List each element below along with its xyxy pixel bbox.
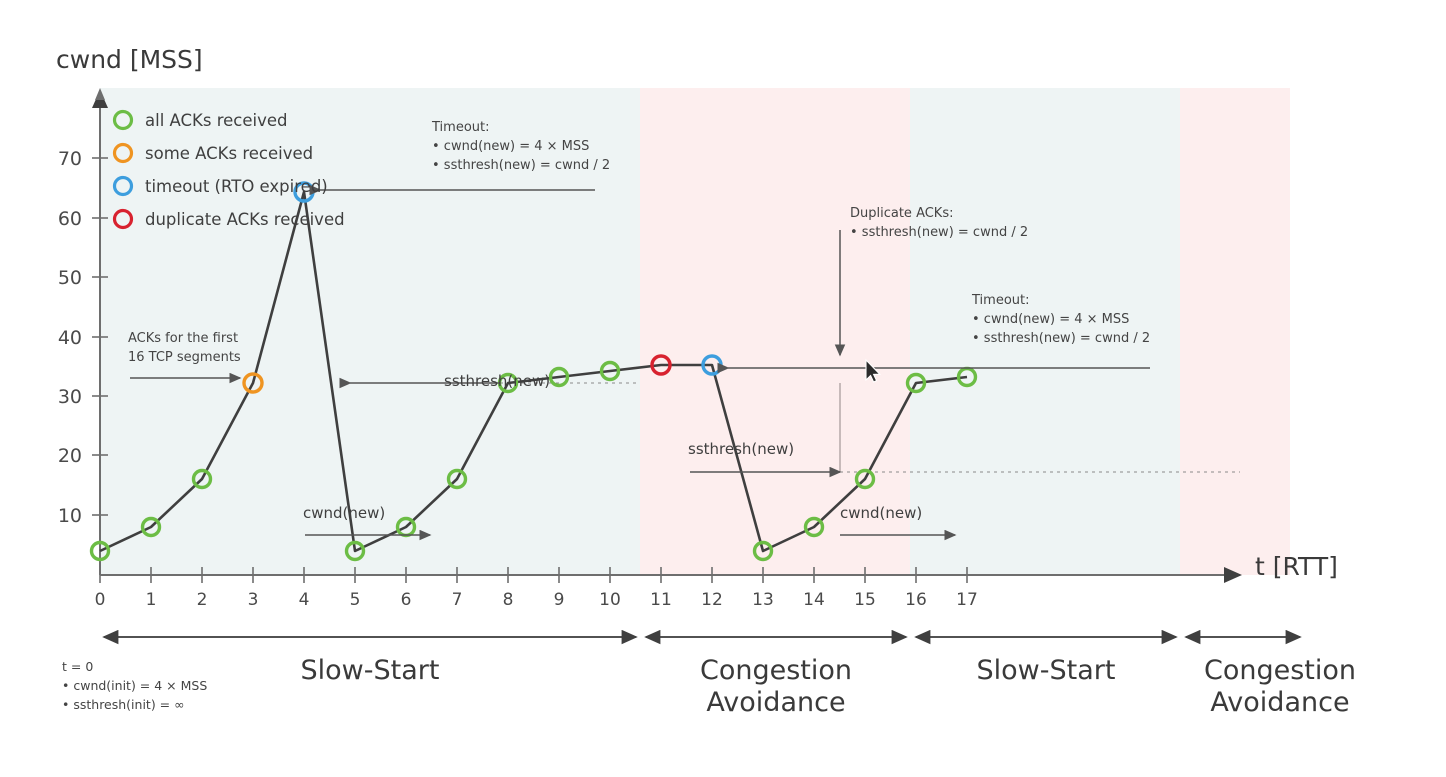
x-tick-label-2: 2 (182, 590, 222, 611)
phase-label-slow-start-1: Slow-Start (230, 655, 510, 687)
x-tick-label-9: 9 (539, 590, 579, 611)
x-tick-label-12: 12 (692, 590, 732, 611)
y-tick-label-10: 10 (30, 505, 82, 529)
y-tick-label-20: 20 (30, 445, 82, 469)
x-tick-label-13: 13 (743, 590, 783, 611)
annotation-initial-state: t = 0 • cwnd(init) = 4 × MSS • ssthresh(… (62, 658, 207, 714)
x-tick-label-6: 6 (386, 590, 426, 611)
x-tick-label-5: 5 (335, 590, 375, 611)
annotation-duplicate-acks: Duplicate ACKs: • ssthresh(new) = cwnd /… (850, 205, 1028, 243)
phase-label-congestion-avoidance-2: Congestion Avoidance (1155, 655, 1405, 720)
tcp-congestion-chart: cwnd [MSS] t [RTT] 10 20 30 40 50 60 70 … (0, 0, 1446, 777)
annotation-timeout-2: Timeout: • cwnd(new) = 4 × MSS • ssthres… (972, 292, 1150, 349)
annotation-acks-16-segments: ACKs for the first 16 TCP segments (128, 330, 241, 368)
x-tick-label-7: 7 (437, 590, 477, 611)
legend-item-all-acks: all ACKs received (145, 111, 287, 132)
legend-item-some-acks: some ACKs received (145, 144, 313, 165)
y-tick-label-70: 70 (30, 148, 82, 172)
x-tick-label-4: 4 (284, 590, 324, 611)
x-tick-label-16: 16 (896, 590, 936, 611)
y-axis-title: cwnd [MSS] (56, 44, 203, 75)
x-tick-label-0: 0 (80, 590, 120, 611)
x-tick-label-10: 10 (590, 590, 630, 611)
label-ssthresh-new-1: ssthresh(new) (444, 372, 550, 391)
y-tick-label-40: 40 (30, 327, 82, 351)
x-axis-title: t [RTT] (1255, 551, 1338, 582)
annotation-timeout-1: Timeout: • cwnd(new) = 4 × MSS • ssthres… (432, 119, 610, 176)
label-ssthresh-new-2: ssthresh(new) (688, 440, 794, 459)
y-tick-label-60: 60 (30, 208, 82, 232)
y-tick-label-30: 30 (30, 386, 82, 410)
y-tick-label-50: 50 (30, 267, 82, 291)
label-cwnd-new-1: cwnd(new) (303, 504, 385, 523)
legend-item-duplicate-acks: duplicate ACKs received (145, 210, 345, 231)
x-tick-label-11: 11 (641, 590, 681, 611)
phase-label-congestion-avoidance-1: Congestion Avoidance (636, 655, 916, 720)
x-tick-label-15: 15 (845, 590, 885, 611)
x-tick-label-3: 3 (233, 590, 273, 611)
label-cwnd-new-2: cwnd(new) (840, 504, 922, 523)
x-tick-label-14: 14 (794, 590, 834, 611)
x-tick-label-8: 8 (488, 590, 528, 611)
legend-item-timeout: timeout (RTO expired) (145, 177, 328, 198)
x-tick-label-1: 1 (131, 590, 171, 611)
x-tick-label-17: 17 (947, 590, 987, 611)
phase-label-slow-start-2: Slow-Start (906, 655, 1186, 687)
